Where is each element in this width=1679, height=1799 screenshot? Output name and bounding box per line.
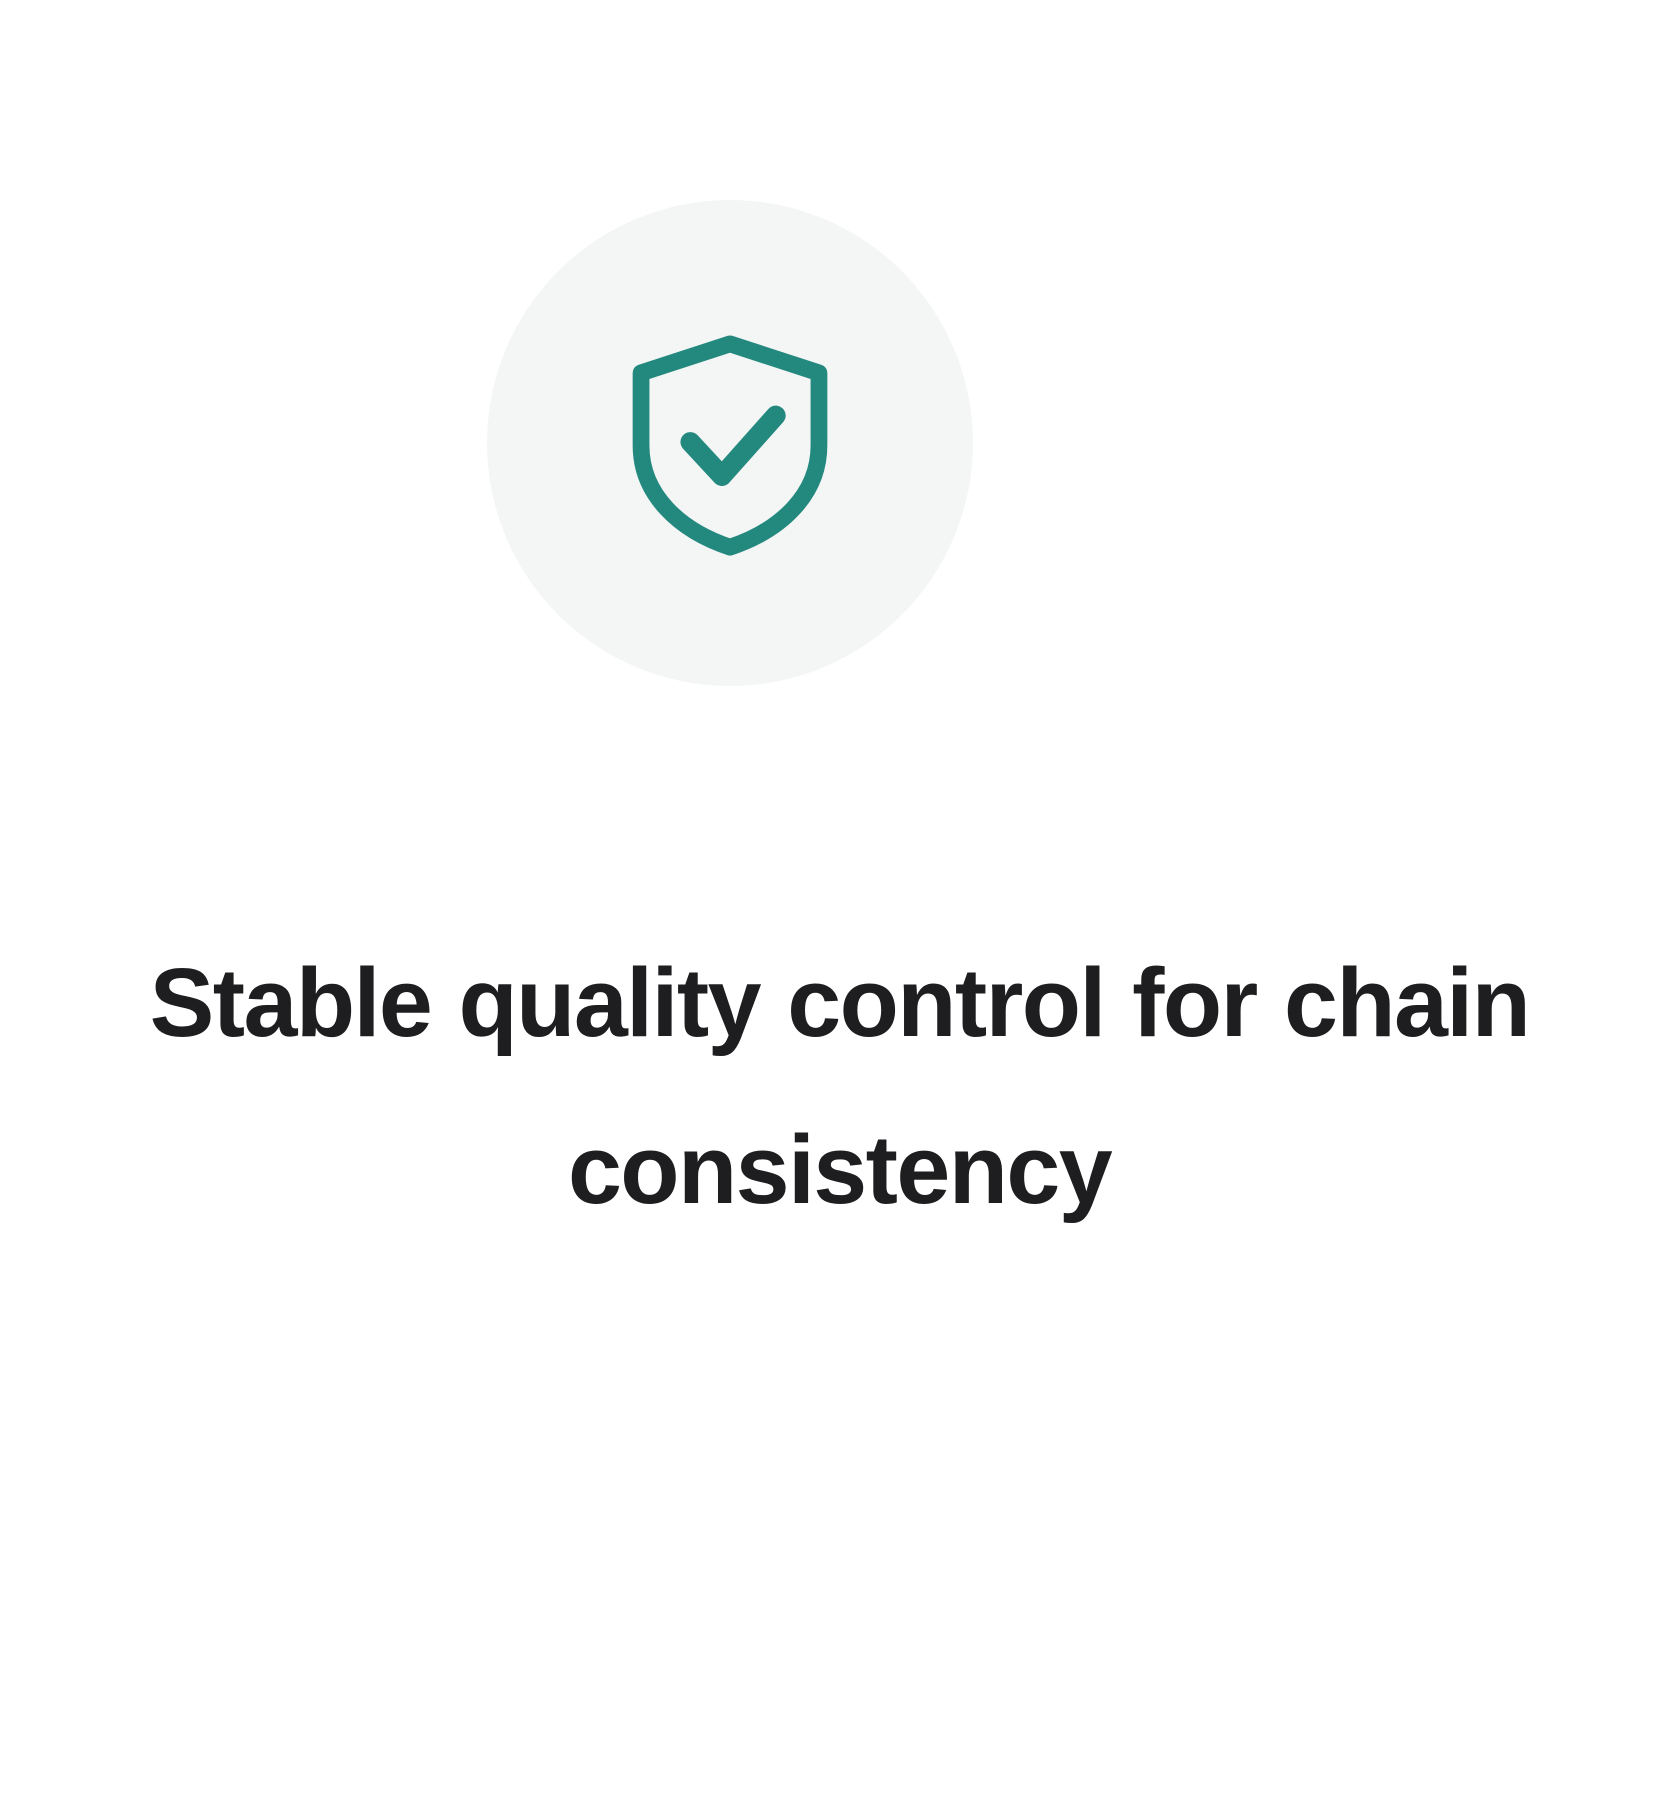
shield-check-icon <box>608 321 852 565</box>
icon-badge <box>487 200 973 686</box>
feature-card: Stable quality control for chain consist… <box>0 0 1679 1799</box>
title-block: Stable quality control for chain consist… <box>0 920 1679 1254</box>
page-title: Stable quality control for chain consist… <box>90 920 1589 1254</box>
